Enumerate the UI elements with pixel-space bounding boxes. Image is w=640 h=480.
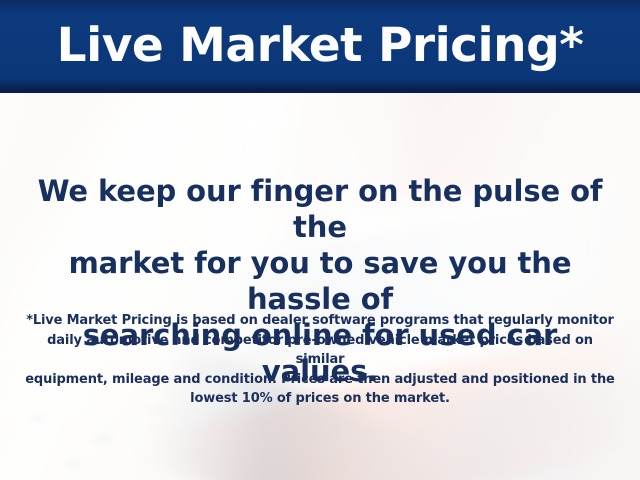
disclaimer-line-2: daily automotive and competitor pre-owne… xyxy=(24,331,616,370)
disclaimer-line-4: lowest 10% of prices on the market. xyxy=(24,389,616,409)
disclaimer-line-1: *Live Market Pricing is based on dealer … xyxy=(24,311,616,331)
disclaimer-line-3: equipment, mileage and condition. Prices… xyxy=(24,370,616,390)
headline-line-2: market for you to save you the hassle of xyxy=(28,245,612,317)
headline-line-1: We keep our finger on the pulse of the xyxy=(28,173,612,245)
live-market-pricing-card: Live Market Pricing* We keep our finger … xyxy=(0,0,640,480)
content-area: We keep our finger on the pulse of the m… xyxy=(0,93,640,480)
disclaimer-text: *Live Market Pricing is based on dealer … xyxy=(24,311,616,409)
page-title: Live Market Pricing* xyxy=(57,22,584,72)
header-banner: Live Market Pricing* xyxy=(0,0,640,93)
